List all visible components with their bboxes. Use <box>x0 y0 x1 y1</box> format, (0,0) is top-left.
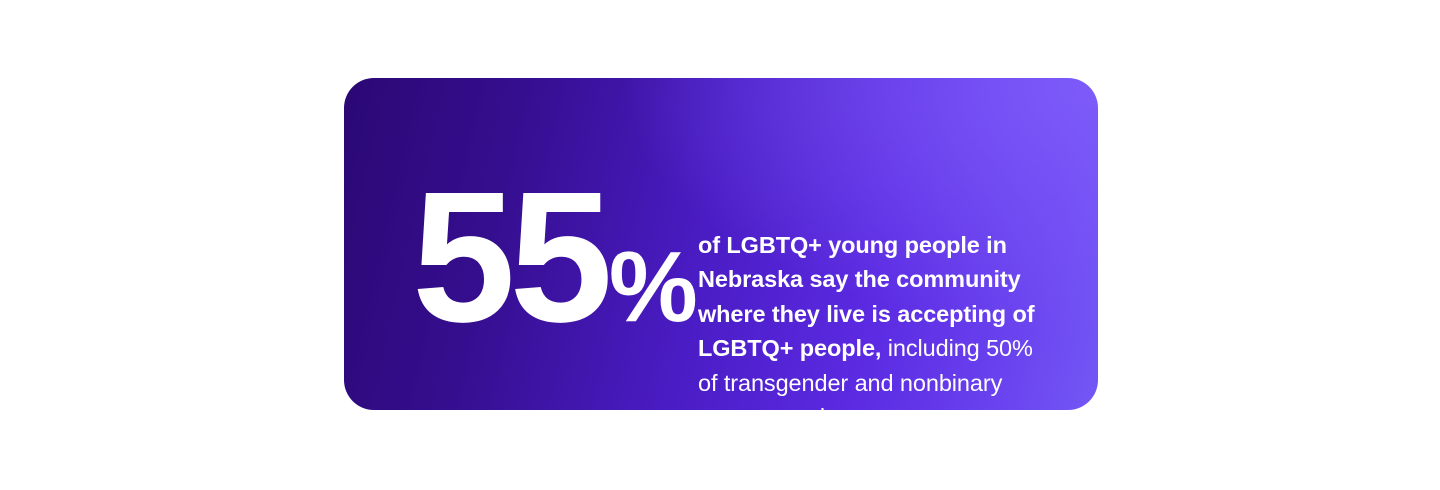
stat-description: of LGBTQ+ young people in Nebraska say t… <box>698 228 1058 411</box>
page-canvas: 55 % of LGBTQ+ young people in Nebraska … <box>0 0 1440 490</box>
stat-figure: 55 % <box>412 78 722 410</box>
stat-value: 55 % <box>412 182 696 335</box>
stat-card: 55 % of LGBTQ+ young people in Nebraska … <box>344 78 1098 410</box>
percent-symbol: % <box>609 246 696 328</box>
stat-card-content: 55 % of LGBTQ+ young people in Nebraska … <box>344 78 1098 410</box>
stat-number: 55 <box>412 182 607 335</box>
